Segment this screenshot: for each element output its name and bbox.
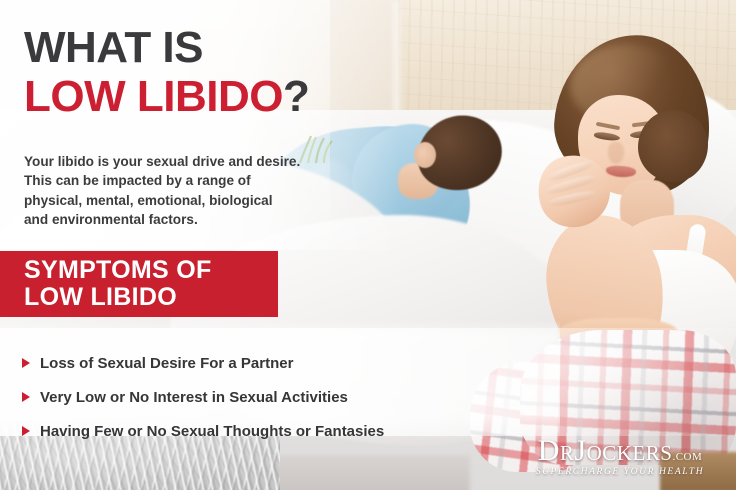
infographic-canvas: WHAT IS LOW LIBIDO? Your libido is your …: [0, 0, 736, 490]
symptom-text: Very Low or No Interest in Sexual Activi…: [40, 389, 348, 406]
list-item: Having Few or No Sexual Thoughts or Fant…: [22, 416, 522, 446]
headline-line-2-text: LOW LIBIDO: [24, 72, 283, 121]
logo-r: R: [560, 441, 575, 465]
symptoms-banner: SYMPTOMS OF LOW LIBIDO: [0, 251, 278, 317]
logo-tagline: SUPERCHARGE YOUR HEALTH: [516, 467, 724, 477]
paragraph-line-2: This can be impacted by a range of: [24, 171, 324, 190]
symptoms-list: Loss of Sexual Desire For a Partner Very…: [22, 348, 522, 450]
triangle-right-icon: [22, 392, 30, 402]
triangle-right-icon: [22, 358, 30, 368]
floor: [250, 455, 470, 490]
logo-wordmark: DRJOCKERS.COM: [516, 436, 724, 466]
page-title: WHAT IS LOW LIBIDO?: [24, 26, 309, 119]
headline-line-2: LOW LIBIDO?: [24, 75, 309, 119]
banner-line-2: LOW LIBIDO: [24, 284, 278, 311]
sleeping-man-ear: [414, 142, 436, 168]
headline-question-mark: ?: [283, 72, 309, 121]
paragraph-line-1: Your libido is your sexual drive and des…: [24, 152, 324, 171]
list-item: Loss of Sexual Desire For a Partner: [22, 348, 522, 378]
banner-line-1: SYMPTOMS OF: [24, 257, 278, 284]
intro-paragraph: Your libido is your sexual drive and des…: [24, 152, 324, 229]
triangle-right-icon: [22, 426, 30, 436]
list-item: Very Low or No Interest in Sexual Activi…: [22, 382, 522, 412]
brand-logo: DRJOCKERS.COM SUPERCHARGE YOUR HEALTH: [516, 436, 724, 477]
paragraph-line-3: physical, mental, emotional, biological: [24, 191, 324, 210]
woman-nose: [608, 142, 624, 164]
symptom-text: Having Few or No Sexual Thoughts or Fant…: [40, 423, 384, 440]
logo-d: D: [538, 434, 560, 467]
paragraph-line-4: and environmental factors.: [24, 210, 324, 229]
woman-hair-bun: [638, 110, 708, 182]
logo-domain: .COM: [672, 451, 702, 463]
logo-ockers: OCKERS: [587, 441, 673, 465]
symptom-text: Loss of Sexual Desire For a Partner: [40, 355, 293, 372]
headline-line-1: WHAT IS: [24, 26, 309, 70]
logo-j: J: [574, 434, 586, 467]
